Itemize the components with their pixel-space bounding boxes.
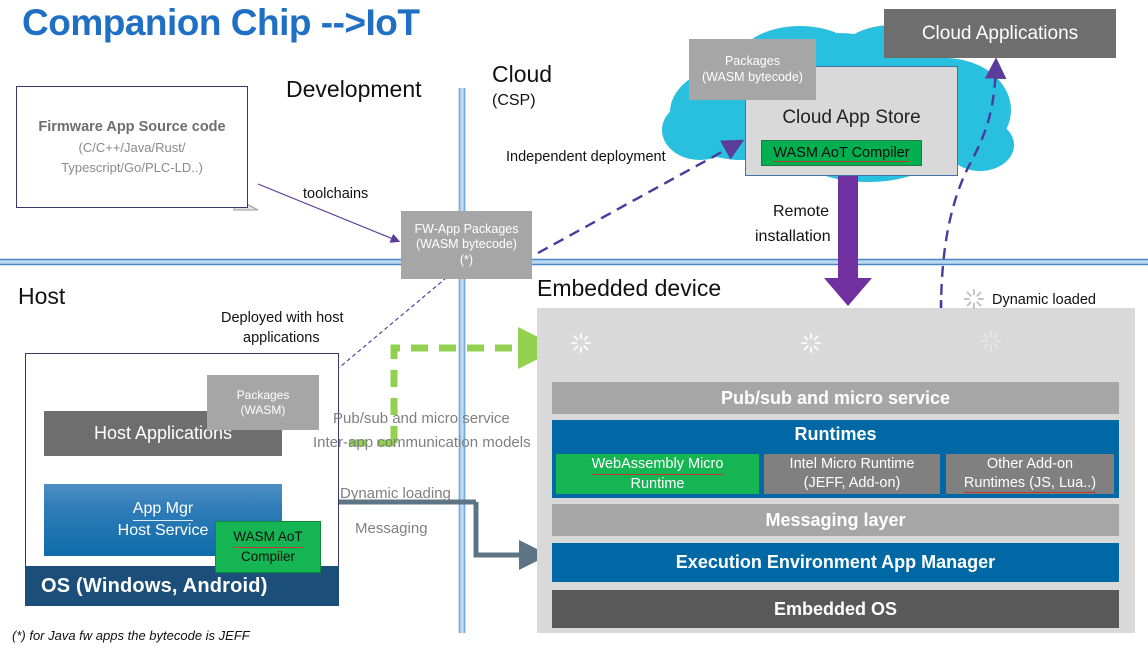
callout-host-packages: Packages (WASM) <box>207 375 319 430</box>
host-wasm-aot-compiler-box: WASM AoT Compiler <box>215 521 321 573</box>
runtime-other-addon: Other Add-on Runtimes (JS, Lua..) <box>946 454 1114 494</box>
dynamic-loading-spinner-icon <box>800 332 822 354</box>
label-remote-line2: installation <box>755 228 831 246</box>
label-remote-line1: Remote <box>773 203 829 221</box>
band-messaging-layer: Messaging layer <box>552 504 1119 536</box>
label-pubsub-micro-service: Pub/sub and micro service <box>333 410 510 427</box>
callout-fw-line2: (WASM bytecode) <box>416 237 517 253</box>
callout-cloud-packages: Packages (WASM bytecode) <box>689 39 816 100</box>
label-dynamic-loading: Dynamic loading <box>340 485 451 502</box>
runtime-2-line2: Runtimes (JS, Lua..) <box>964 474 1096 494</box>
band-embedded-os: Embedded OS <box>552 590 1119 628</box>
diagram-canvas: Companion Chip -->IoT Development Cloud … <box>0 0 1148 653</box>
label-toolchains: toolchains <box>303 186 368 202</box>
runtime-0-line1: WebAssembly Micro <box>592 455 724 475</box>
band-execution-env-app-manager: Execution Environment App Manager <box>552 543 1119 582</box>
firmware-box-title: Firmware App Source code <box>38 118 225 138</box>
label-independent-deployment: Independent deployment <box>506 149 666 165</box>
runtime-2-line1: Other Add-on <box>987 455 1073 474</box>
cloud-app-store-label: Cloud App Store <box>746 107 957 129</box>
horizontal-divider <box>0 260 1148 265</box>
vertical-divider <box>460 88 465 633</box>
label-interapp-communication: Inter-app communication models <box>313 434 531 451</box>
callout-cloud-packages-line2: (WASM bytecode) <box>702 70 803 86</box>
dynamic-loaded-legend-spinner-icon <box>963 288 985 310</box>
section-label-cloud-sub: (CSP) <box>492 92 536 110</box>
firmware-box-line1: (C/C++/Java/Rust/ <box>79 139 186 157</box>
host-aot-line1: WASM AoT <box>233 528 302 547</box>
footnote: (*) for Java fw apps the bytecode is JEF… <box>12 628 250 643</box>
callout-host-packages-line1: Packages <box>237 388 290 403</box>
dynamic-loading-spinner-icon <box>570 332 592 354</box>
callout-fw-line1: FW-App Packages <box>415 222 519 238</box>
runtime-intel-micro: Intel Micro Runtime (JEFF, Add-on) <box>764 454 940 494</box>
runtime-1-line1: Intel Micro Runtime <box>790 455 915 474</box>
section-label-development: Development <box>286 76 422 103</box>
runtime-webassembly-micro: WebAssembly Micro Runtime <box>556 454 759 494</box>
firmware-source-box: Firmware App Source code (C/C++/Java/Rus… <box>16 86 248 208</box>
runtime-0-line2: Runtime <box>631 475 685 494</box>
dynamic-loading-spinner-icon <box>980 330 1002 352</box>
label-messaging: Messaging <box>355 520 428 537</box>
callout-host-packages-line2: (WASM) <box>241 403 286 418</box>
cloud-wasm-aot-compiler: WASM AoT Compiler <box>761 140 922 166</box>
label-deployed-line1: Deployed with host <box>221 310 344 326</box>
runtime-1-line2: (JEFF, Add-on) <box>804 474 901 493</box>
app-mgr-line2: Host Service <box>118 521 209 542</box>
callout-fw-app-packages: FW-App Packages (WASM bytecode) (*) <box>401 211 532 279</box>
label-deployed-line2: applications <box>243 330 320 346</box>
section-label-host: Host <box>18 283 65 310</box>
app-mgr-line1: App Mgr <box>133 499 193 521</box>
callout-fw-line3: (*) <box>460 253 473 269</box>
firmware-box-line2: Typescript/Go/PLC-LD..) <box>61 159 203 177</box>
section-label-cloud: Cloud <box>492 61 552 88</box>
callout-cloud-packages-line1: Packages <box>725 54 780 70</box>
band-pubsub-micro-service: Pub/sub and micro service <box>552 382 1119 414</box>
cloud-applications-box: Cloud Applications <box>884 9 1116 58</box>
section-label-embedded-device: Embedded device <box>537 275 721 302</box>
legend-dynamic-loaded: Dynamic loaded <box>992 292 1096 308</box>
host-aot-line2: Compiler <box>241 548 295 566</box>
cloud-aot-compiler-label: WASM AoT Compiler <box>773 145 909 162</box>
page-title: Companion Chip -->IoT <box>22 2 419 44</box>
